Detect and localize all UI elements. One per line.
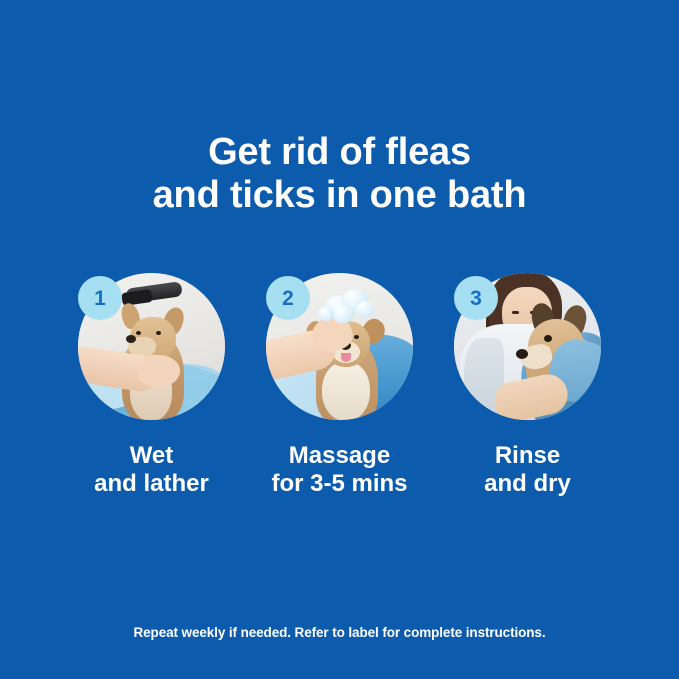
dog-chest-shape [322,361,370,420]
step-1-caption-line-1: Wet [94,442,209,470]
headline-line-2: and ticks in one bath [0,174,679,217]
step-2-caption: Massage for 3-5 mins [271,442,407,498]
poster-canvas: Get rid of fleas and ticks in one bath [0,0,679,679]
step-1-photo-wrap: 1 [78,273,225,420]
step-2-caption-line-1: Massage [271,442,407,470]
step-1-number-badge: 1 [78,276,122,320]
dog-eye-shape [544,335,552,342]
dog-nose-shape [126,335,136,343]
step-2-caption-line-2: for 3-5 mins [271,470,407,498]
step-2-number-badge: 2 [266,276,310,320]
step-3-photo-wrap: 3 [454,273,601,420]
foam-bubble-icon [356,301,374,317]
step-1: 1 Wet and lather [78,273,225,498]
foam-bubble-icon [318,307,334,321]
dog-nose-shape [516,349,528,359]
page-title: Get rid of fleas and ticks in one bath [0,131,679,217]
step-2-photo-wrap: 2 [266,273,413,420]
step-3-caption-line-1: Rinse [484,442,571,470]
footer-note: Repeat weekly if needed. Refer to label … [0,625,679,640]
step-3-number-badge: 3 [454,276,498,320]
step-1-caption-line-2: and lather [94,470,209,498]
woman-eye-left-shape [512,311,519,314]
step-1-caption: Wet and lather [94,442,209,498]
step-3: 3 Rinse and dry [454,273,601,498]
step-3-caption-line-2: and dry [484,470,571,498]
step-3-caption: Rinse and dry [484,442,571,498]
dog-eye-right-shape [354,335,359,339]
foam-bubble-icon [332,305,354,323]
step-2: 2 Massage for 3-5 mins [266,273,413,498]
headline-line-1: Get rid of fleas [0,131,679,174]
steps-row: 1 Wet and lather [0,273,679,503]
dog-eye-left-shape [136,331,141,335]
dog-eye-right-shape [156,331,161,335]
dog-tongue-shape [341,353,351,362]
